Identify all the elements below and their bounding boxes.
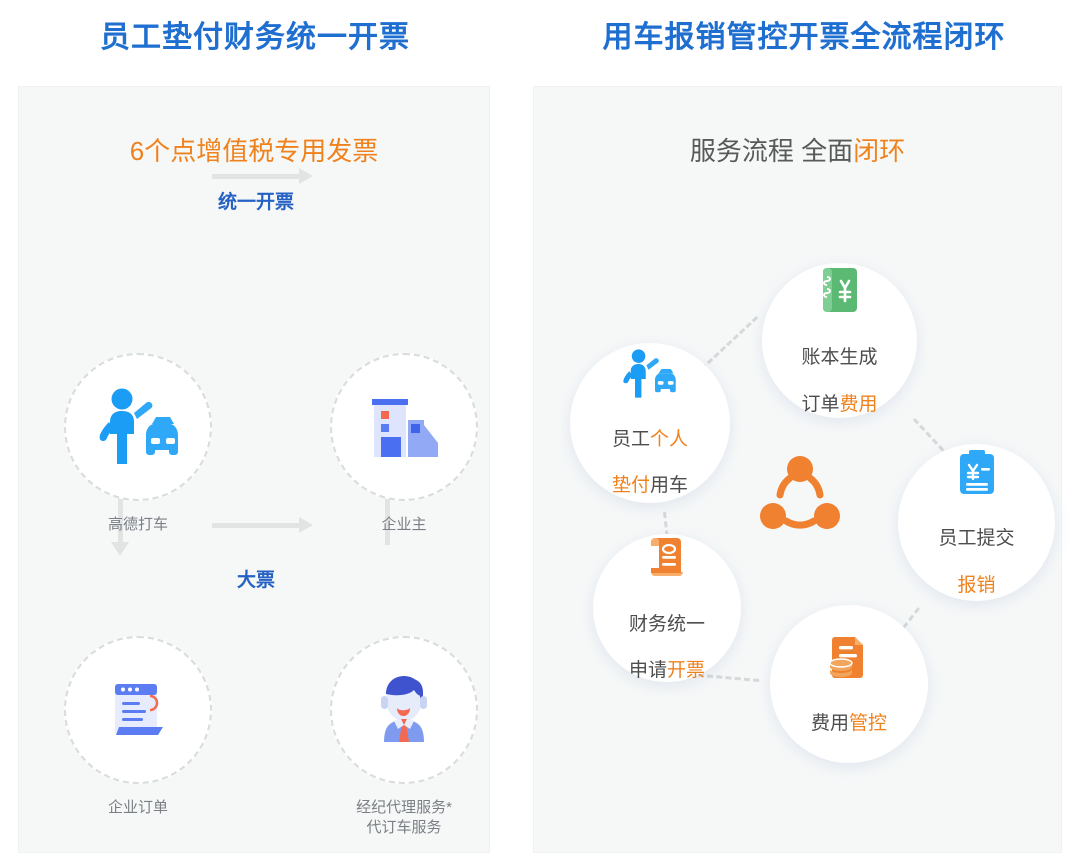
node-enterprise-owner: 企业主: [330, 353, 478, 535]
bubble-line1-plain: 账本生成: [801, 347, 877, 368]
bubble-label: 费用管控: [811, 689, 887, 735]
cycle-three-dots-icon: [756, 453, 844, 539]
right-panel: 服务流程 全面闭环: [533, 86, 1062, 853]
node-disc: [64, 353, 212, 501]
connector-bottom-label: 大票: [192, 565, 320, 592]
bubble-label: 员工提交 报销: [938, 504, 1014, 597]
blue-clipboard-yen-icon: [955, 448, 999, 498]
right-panel-subtitle: 服务流程 全面闭环: [534, 131, 1061, 168]
bubble-employee-advance: 员工个人 垫付用车: [570, 343, 730, 503]
bubble-line1-plain: 费用: [811, 713, 849, 734]
bubble-line1-highlight: 个人: [650, 429, 688, 450]
bubble-line2-highlight: 报销: [957, 575, 995, 596]
connector-top-arrow: [212, 174, 300, 179]
bubble-line1-plain: 员工提交: [938, 528, 1014, 549]
orange-doc-coins-icon: [824, 633, 874, 683]
bubble-ledger-order-cost: 账本生成 订单费用: [762, 263, 917, 418]
bubble-line2-plain: 订单: [801, 394, 839, 415]
green-ledger-yen-icon: [816, 265, 864, 317]
node-agent-service: 经纪代理服务* 代订车服务: [330, 636, 478, 839]
person-hailing-taxi-icon: [95, 388, 181, 466]
node-disc: [64, 636, 212, 784]
node-caption: 企业订单: [64, 798, 212, 818]
bubble-label: 账本生成 订单费用: [801, 323, 877, 416]
right-panel-subtitle-plain: 服务流程 全面: [690, 136, 853, 166]
office-building-icon: [364, 391, 444, 463]
bubble-employee-submit-reimbursement: 员工提交 报销: [898, 444, 1055, 601]
person-hailing-taxi-icon: [619, 349, 681, 399]
node-caption: 高德打车: [64, 515, 212, 535]
infographic-canvas: 员工垫付财务统一开票 用车报销管控开票全流程闭环 6个点增值税专用发票 统一开票…: [0, 0, 1080, 868]
node-enterprise-order: 企业订单: [64, 636, 212, 818]
node-amap-taxi: 高德打车: [64, 353, 212, 535]
left-panel: 6个点增值税专用发票 统一开票 大票: [18, 86, 490, 853]
node-caption: 经纪代理服务* 代订车服务: [330, 798, 478, 839]
left-panel-subtitle: 6个点增值税专用发票: [19, 131, 489, 168]
bubble-label: 财务统一 申请开票: [629, 590, 705, 683]
bubble-cost-control: 费用管控: [770, 605, 928, 763]
bubble-line1-plain: 财务统一: [629, 614, 705, 635]
bubble-line1-plain: 员工: [612, 429, 650, 450]
bubble-line2-plain: 用车: [650, 475, 688, 496]
bubble-line2-plain: 申请: [629, 660, 667, 681]
node-disc: [330, 353, 478, 501]
bubble-line2-highlight: 垫付: [612, 475, 650, 496]
bubble-line1-highlight: 管控: [849, 713, 887, 734]
order-document-icon: [102, 674, 174, 746]
right-column-heading: 用车报销管控开票全流程闭环: [528, 12, 1080, 56]
agent-headset-icon: [368, 672, 440, 748]
node-disc: [330, 636, 478, 784]
node-caption: 企业主: [330, 515, 478, 535]
bubble-line2-highlight: 费用: [840, 394, 878, 415]
left-column-heading: 员工垫付财务统一开票: [0, 12, 510, 56]
connector-top-label: 统一开票: [192, 187, 320, 214]
bubble-label: 员工个人 垫付用车: [612, 405, 688, 498]
bubble-line2-highlight: 开票: [667, 660, 705, 681]
orange-scroll-invoice-icon: [643, 534, 691, 584]
right-panel-subtitle-highlight: 闭环: [853, 136, 905, 166]
connector-bottom-arrow: [212, 523, 300, 528]
bubble-finance-apply-invoice: 财务统一 申请开票: [593, 534, 741, 682]
